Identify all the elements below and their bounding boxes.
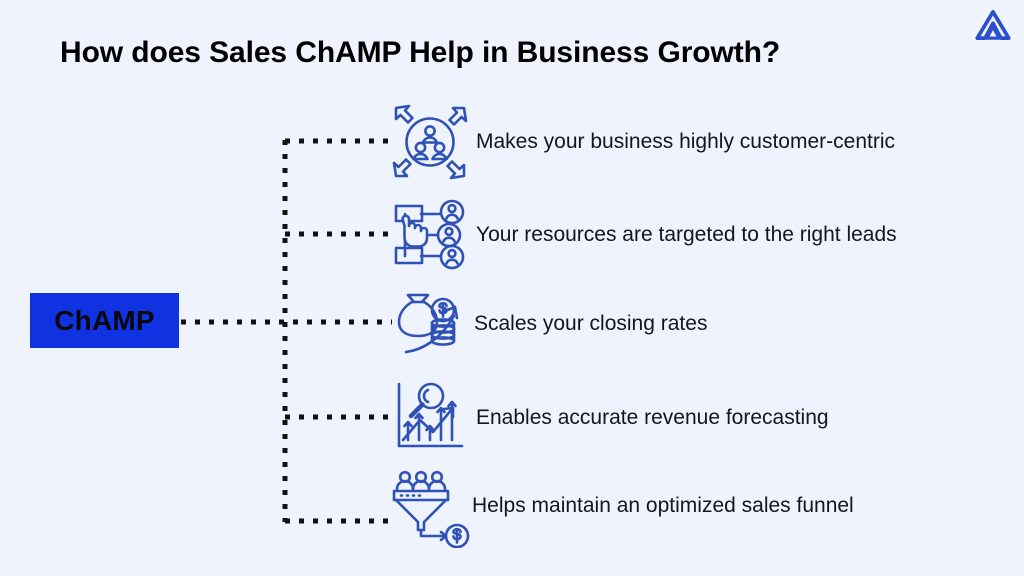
- hand-pointer-targeting-leads-icon: [388, 193, 472, 277]
- benefit-label-5: Helps maintain an optimized sales funnel: [472, 494, 854, 518]
- benefit-label-3: Scales your closing rates: [474, 312, 707, 336]
- customer-group-inward-arrows-icon: [388, 100, 472, 184]
- benefit-row-2[interactable]: Your resources are targeted to the right…: [388, 190, 897, 280]
- mountain-logo-icon: [972, 8, 1014, 42]
- champ-center-node[interactable]: ChAMP: [30, 293, 179, 348]
- money-bag-coins-growth-arrow-icon: [388, 282, 472, 366]
- sales-funnel-dollar-icon: [388, 464, 472, 548]
- magnifier-bar-chart-forecast-icon: [388, 376, 472, 460]
- benefit-row-5[interactable]: Helps maintain an optimized sales funnel: [388, 461, 854, 551]
- benefit-row-1[interactable]: Makes your business highly customer-cent…: [388, 97, 895, 187]
- champ-center-node-label: ChAMP: [54, 305, 155, 337]
- benefit-label-2: Your resources are targeted to the right…: [476, 223, 897, 247]
- benefit-row-4[interactable]: Enables accurate revenue forecasting: [388, 373, 829, 463]
- benefit-label-1: Makes your business highly customer-cent…: [476, 130, 895, 154]
- benefit-label-4: Enables accurate revenue forecasting: [476, 406, 829, 430]
- page-title: How does Sales ChAMP Help in Business Gr…: [60, 36, 780, 70]
- infographic-canvas: How does Sales ChAMP Help in Business Gr…: [0, 0, 1024, 576]
- benefit-row-3[interactable]: Scales your closing rates: [388, 279, 707, 369]
